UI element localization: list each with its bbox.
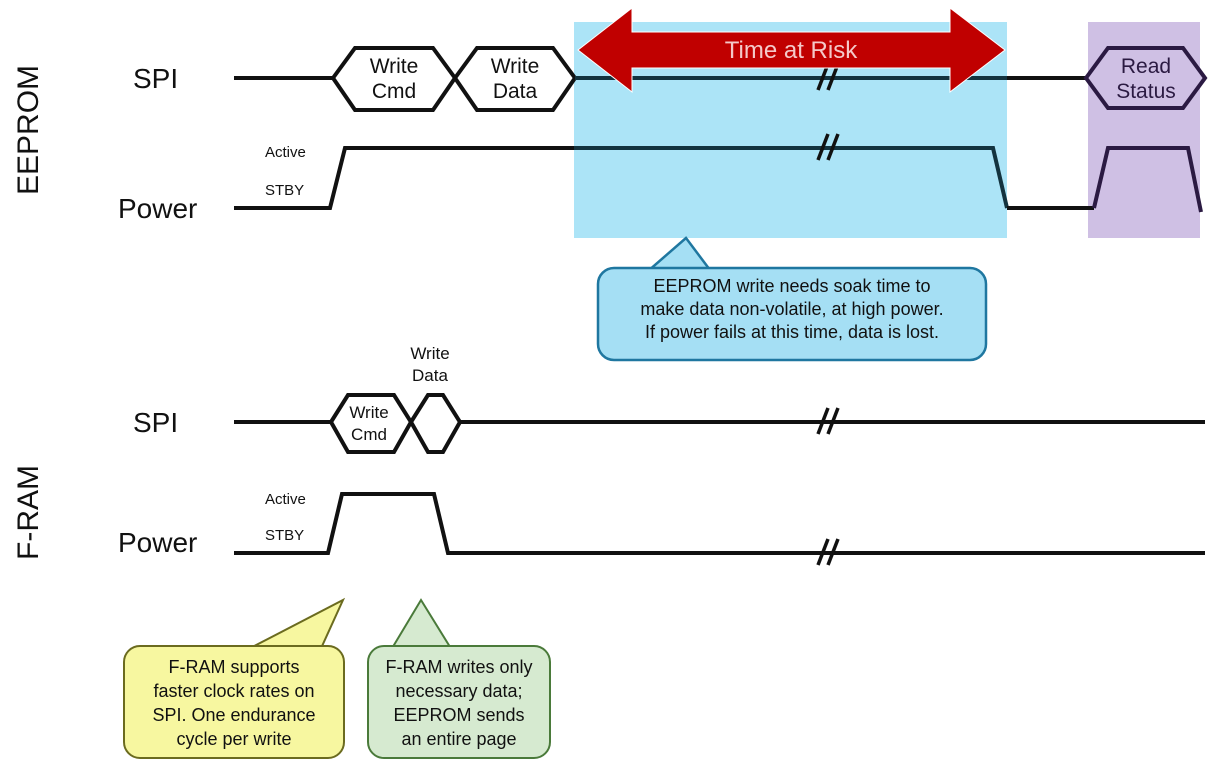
read-status-label-line2: Status	[1116, 80, 1176, 103]
fram-power-pulse-line	[234, 494, 1205, 553]
eeprom-callout-line2: make data non-volatile, at high power.	[640, 299, 943, 319]
green-callout-line2: necessary data;	[395, 681, 522, 701]
time-at-risk-label: Time at Risk	[725, 37, 858, 64]
eeprom-packet1-label-line1: Write	[370, 55, 419, 78]
eeprom-packet1-label-line2: Cmd	[372, 80, 416, 103]
yellow-callout-line3: SPI. One endurance	[152, 705, 315, 725]
fram-packet1-label-line2: Cmd	[351, 425, 387, 444]
read-status-label-line1: Read	[1121, 55, 1171, 78]
eeprom-power-stby-label: STBY	[265, 182, 304, 199]
fram-packet1-label-line1: Write	[349, 403, 388, 422]
fram-spi-packet-write-data	[411, 395, 460, 452]
eeprom-callout-line1: EEPROM write needs soak time to	[653, 276, 930, 296]
eeprom-packet2-label-line1: Write	[491, 55, 540, 78]
yellow-callout-line2: faster clock rates on	[153, 681, 314, 701]
timing-diagram-canvas: EEPROM SPI Power Write Cmd Write Data Re…	[0, 0, 1214, 770]
green-callout-line1: F-RAM writes only	[385, 657, 532, 677]
fram-packet2-label-line2: Data	[412, 366, 448, 385]
fram-power-stby-label: STBY	[265, 527, 304, 544]
yellow-callout-line1: F-RAM supports	[168, 657, 299, 677]
green-callout-line4: an entire page	[401, 729, 516, 749]
yellow-callout-line4: cycle per write	[176, 729, 291, 749]
green-callout-line3: EEPROM sends	[393, 705, 524, 725]
group-label-eeprom: EEPROM	[12, 65, 45, 195]
fram-power-row-label: Power	[118, 527, 197, 558]
eeprom-callout-line3: If power fails at this time, data is los…	[645, 322, 939, 342]
eeprom-power-active-label: Active	[265, 144, 306, 161]
fram-spi-row-label: SPI	[133, 407, 178, 438]
group-label-fram: F-RAM	[12, 465, 45, 560]
fram-power-active-label: Active	[265, 491, 306, 508]
eeprom-power-row-label: Power	[118, 193, 197, 224]
eeprom-spi-row-label: SPI	[133, 63, 178, 94]
fram-packet2-label-line1: Write	[410, 344, 449, 363]
eeprom-packet2-label-line2: Data	[493, 80, 538, 103]
